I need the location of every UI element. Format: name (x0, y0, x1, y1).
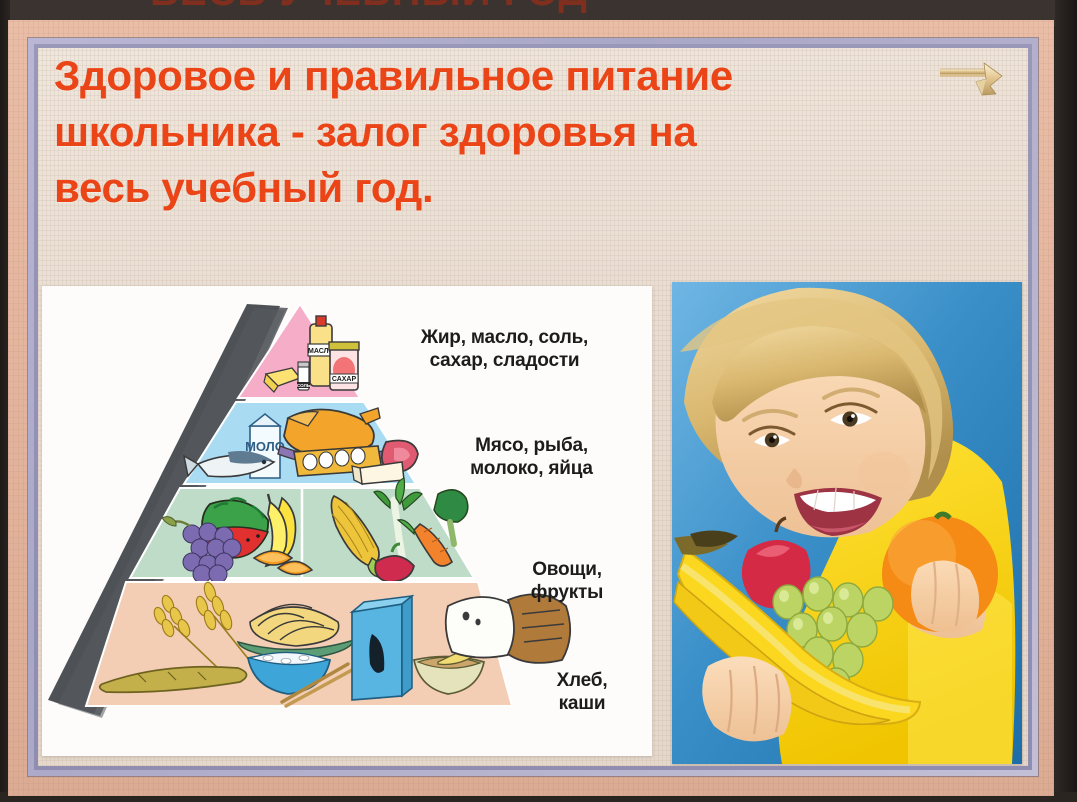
decorative-arrow-icon (940, 62, 1010, 120)
photo-child-fingers (911, 560, 979, 633)
pyramid-label-grains-line2: каши (522, 692, 642, 715)
bleed-top-text: ВЕСЬ УЧЕБНЫЙ ГОД (150, 0, 588, 15)
page-title: Здоровое и правильное питание школьника … (54, 48, 1014, 216)
child-photo-illustration (672, 282, 1022, 764)
svg-text:СОЛЬ: СОЛЬ (297, 383, 311, 388)
food-bread-loaf (446, 594, 570, 663)
slide-canvas: Здоровое и правильное питание школьника … (38, 48, 1028, 766)
pyramid-label-protein-line2: молоко, яйца (424, 457, 639, 480)
pyramid-tier-produce (130, 478, 474, 583)
pyramid-label-grains: Хлеб, каши (522, 669, 642, 715)
child-with-fruit-photo (672, 282, 1022, 764)
pyramid-label-protein-line1: Мясо, рыба, (424, 434, 639, 457)
title-line-1: Здоровое и правильное питание (54, 48, 1014, 104)
pyramid-label-grains-line1: Хлеб, (522, 669, 642, 692)
food-salt-shaker: СОЛЬ (297, 362, 311, 390)
food-cereal-box (352, 596, 412, 700)
pyramid-label-produce: Овощи, фрукты (492, 558, 642, 604)
pyramid-label-protein: Мясо, рыба, молоко, яйца (424, 434, 639, 480)
title-line-2: школьника - залог здоровья на (54, 104, 1014, 160)
slide-screenshot: ВЕСЬ УЧЕБНЫЙ ГОД Здоровое и правильное п… (0, 0, 1077, 802)
pyramid-label-fats-line1: Жир, масло, соль, (372, 326, 637, 349)
food-sugar-jar: САХАР (329, 342, 359, 390)
pyramid-label-fats: Жир, масло, соль, сахар, сладости (372, 326, 637, 372)
pyramid-label-produce-line2: фрукты (492, 581, 642, 604)
title-line-3: весь учебный год. (54, 160, 1014, 216)
pyramid-label-fats-line2: сахар, сладости (372, 349, 637, 372)
window-right-edge (1055, 0, 1077, 802)
pyramid-label-produce-line1: Овощи, (492, 558, 642, 581)
food-pyramid-card: МАСЛО САХАР (42, 286, 652, 756)
svg-text:САХАР: САХАР (332, 376, 357, 383)
